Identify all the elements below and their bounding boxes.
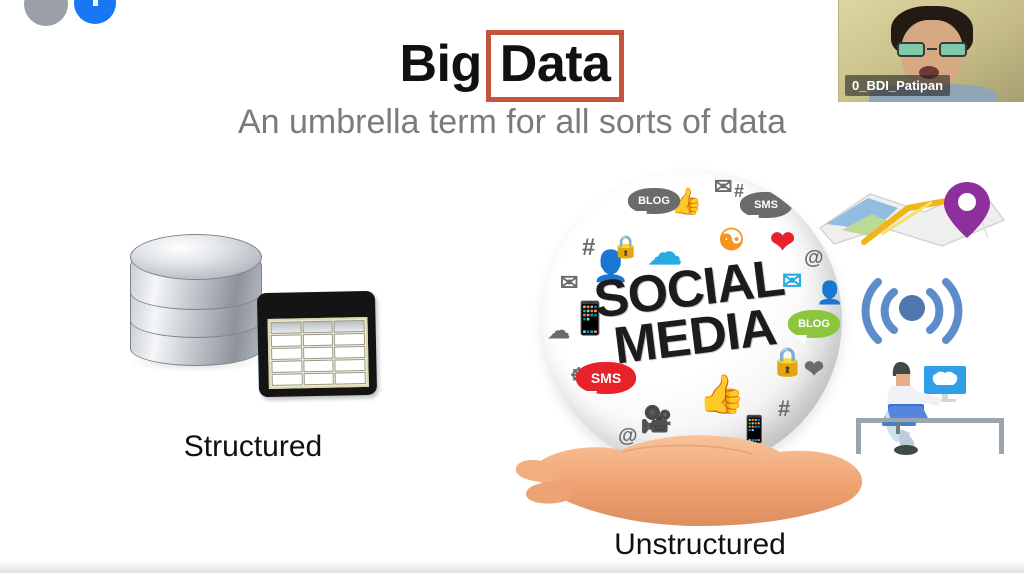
zoom-shared-screen: Big Data An umbrella term for all sorts … — [0, 0, 1024, 573]
sheet-cell — [334, 346, 365, 359]
thumbs-up-icon-green: 👍 — [698, 376, 745, 414]
sms-bubble-gray: SMS — [740, 192, 792, 218]
structured-label: Structured — [118, 430, 388, 464]
sheet-cell — [272, 373, 303, 386]
sheet-cell — [303, 347, 334, 360]
spreadsheet-table-icon — [257, 291, 377, 397]
sheet-cell — [303, 373, 334, 386]
structured-illustration — [118, 228, 388, 403]
heart-icon-gray: ❤ — [804, 358, 824, 382]
sheet-cell — [271, 347, 302, 360]
blue-circle-notch — [93, 0, 98, 6]
envelope-icon-gray: ✉ — [714, 176, 732, 198]
sheet-cell — [335, 359, 366, 372]
sheet-cell — [335, 372, 366, 385]
folded-map-icon — [812, 172, 1012, 262]
sheet-cell — [271, 334, 302, 347]
participant-glasses-icon — [897, 42, 967, 57]
sms-bubble-gray-text: SMS — [754, 199, 778, 211]
sheet-cell — [334, 320, 365, 333]
sheet-cell — [303, 360, 334, 373]
title-word-data-boxed: Data — [486, 30, 625, 102]
glasses-lens-left — [897, 42, 925, 57]
rss-broadcast-icon — [856, 278, 968, 356]
glasses-lens-right — [939, 42, 967, 57]
glasses-bridge — [927, 48, 937, 50]
participant-name-label: 0_BDI_Patipan — [845, 75, 950, 96]
lock-icon-gray: 🔒 — [612, 236, 639, 258]
person-at-desk-icon — [848, 352, 1014, 458]
sheet-cell — [302, 334, 333, 347]
title-word-big: Big — [400, 38, 482, 90]
sheet-cell — [334, 333, 365, 346]
zoom-watermark: zoom — [818, 490, 976, 561]
database-cylinder-icon-top — [130, 234, 262, 280]
sheet-cell — [302, 321, 333, 334]
sheet-cell — [271, 321, 302, 334]
slide-subtitle: An umbrella term for all sorts of data — [0, 103, 1024, 142]
blog-bubble-gray: BLOG — [628, 188, 680, 214]
bottom-toolbar-edge — [0, 561, 1024, 573]
gray-circle-icon — [24, 0, 68, 26]
sheet-cell — [271, 360, 302, 373]
spreadsheet-grid — [267, 317, 368, 389]
wifi-icon-orange: ☯ — [718, 226, 745, 256]
participant-video-tile[interactable]: 0_BDI_Patipan — [838, 0, 1024, 102]
blog-bubble-gray-text: BLOG — [638, 195, 670, 207]
